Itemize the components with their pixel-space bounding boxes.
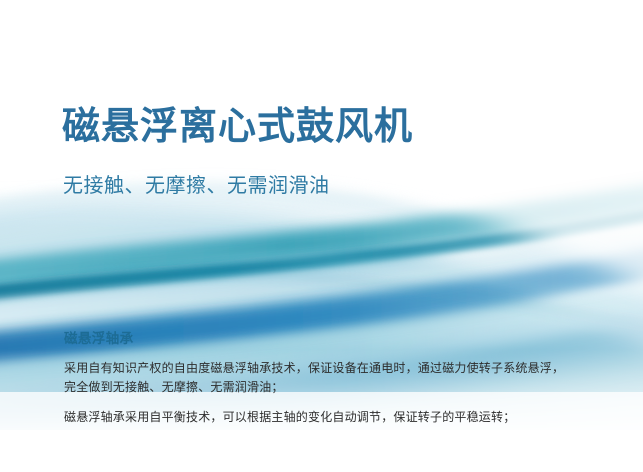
paragraph-line: 完全做到无接触、无摩擦、无需润滑油；	[64, 378, 604, 397]
page-title: 磁悬浮离心式鼓风机	[62, 107, 413, 149]
paragraph-line: 采用自有知识产权的自由度磁悬浮轴承技术，保证设备在通电时，通过磁力使转子系统悬浮…	[64, 359, 604, 378]
page-subtitle: 无接触、无摩擦、无需润滑油	[63, 174, 330, 198]
feature-paragraph: 采用自有知识产权的自由度磁悬浮轴承技术，保证设备在通电时，通过磁力使转子系统悬浮…	[64, 359, 604, 397]
feature-heading: 磁悬浮轴承	[64, 327, 134, 347]
paragraph-line: 磁悬浮轴承采用自平衡技术，可以根据主轴的变化自动调节，保证转子的平稳运转；	[64, 408, 604, 427]
text-layer: 磁悬浮离心式鼓风机 无接触、无摩擦、无需润滑油 磁悬浮轴承 采用自有知识产权的自…	[0, 0, 643, 472]
promo-slide: 磁悬浮离心式鼓风机 无接触、无摩擦、无需润滑油 磁悬浮轴承 采用自有知识产权的自…	[0, 0, 643, 472]
feature-paragraph: 磁悬浮轴承采用自平衡技术，可以根据主轴的变化自动调节，保证转子的平稳运转；	[64, 408, 604, 427]
